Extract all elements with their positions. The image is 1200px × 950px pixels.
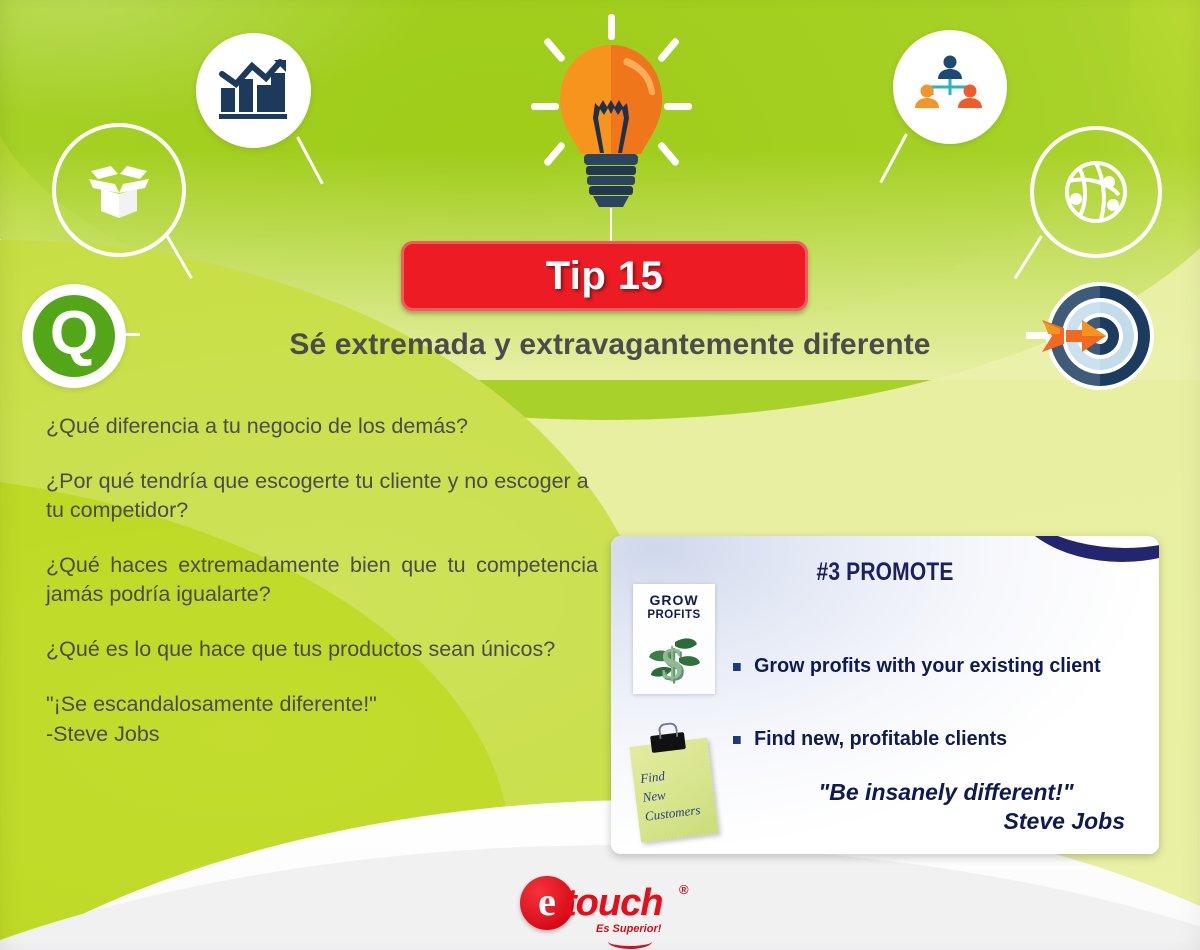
- svg-text:$: $: [661, 639, 683, 688]
- globe-network-icon: [1057, 155, 1135, 229]
- org-chart-people-icon: [912, 55, 988, 119]
- quote-author: -Steve Jobs: [46, 720, 598, 750]
- embedded-slide-photo: #3 PROMOTE GROW PROFITS $ $ Grow profits…: [611, 536, 1159, 854]
- money-plant-icon: $ $: [633, 624, 715, 690]
- embedded-quote-text: "Be insanely different!": [818, 779, 1073, 805]
- question-list: ¿Qué diferencia a tu negocio de los demá…: [46, 412, 598, 750]
- grow-profits-line2: PROFITS: [633, 610, 715, 622]
- logo-registered-mark: ®: [679, 882, 689, 897]
- quote-text: "¡Se escandalosamente diferente!": [46, 690, 598, 720]
- tip-badge[interactable]: Tip 15: [401, 241, 808, 311]
- sticky-note: Find New Customers: [629, 738, 718, 843]
- question-4: ¿Qué es lo que hace que tus productos se…: [46, 635, 598, 663]
- logo-e-letter: e: [538, 882, 556, 922]
- question-3: ¿Qué haces extremadamente bien que tu co…: [46, 551, 598, 608]
- embedded-slide-quote: "Be insanely different!" Steve Jobs: [761, 778, 1131, 835]
- bar-chart-growth-icon: [218, 58, 290, 124]
- grow-profits-card: GROW PROFITS $ $: [633, 584, 715, 694]
- bubble-ring: [1030, 126, 1162, 258]
- bullet-label: Find new, profitable clients: [754, 727, 1007, 751]
- grow-profits-line1: GROW: [633, 593, 715, 607]
- list-item: Grow profits with your existing client: [733, 654, 1136, 678]
- lightbulb-icon: [523, 8, 699, 258]
- etouch-logo[interactable]: e touch ® Es Superior!: [520, 876, 695, 942]
- bullet-square-icon: [733, 663, 741, 671]
- embedded-quote-author: Steve Jobs: [761, 807, 1131, 836]
- open-box-icon: [81, 155, 157, 225]
- logo-wordmark: touch: [564, 882, 662, 925]
- list-item: Find new, profitable clients: [733, 727, 1136, 751]
- tip-infographic-slide: Q Tip 15 Sé extremada y extravagantement…: [0, 0, 1200, 950]
- logo-swoosh: [608, 934, 652, 949]
- bubble-ring: [52, 123, 186, 257]
- embedded-slide-title: #3 PROMOTE: [655, 558, 1115, 587]
- tip-badge-label: Tip 15: [546, 254, 664, 299]
- bullet-label: Grow profits with your existing client: [754, 654, 1101, 678]
- question-1: ¿Qué diferencia a tu negocio de los demá…: [46, 412, 598, 440]
- bullet-square-icon: [733, 736, 741, 744]
- bubble-background: [893, 30, 1007, 144]
- page-title: Sé extremada y extravagantemente diferen…: [0, 328, 1200, 362]
- question-2: ¿Por qué tendría que escogerte tu client…: [46, 467, 598, 524]
